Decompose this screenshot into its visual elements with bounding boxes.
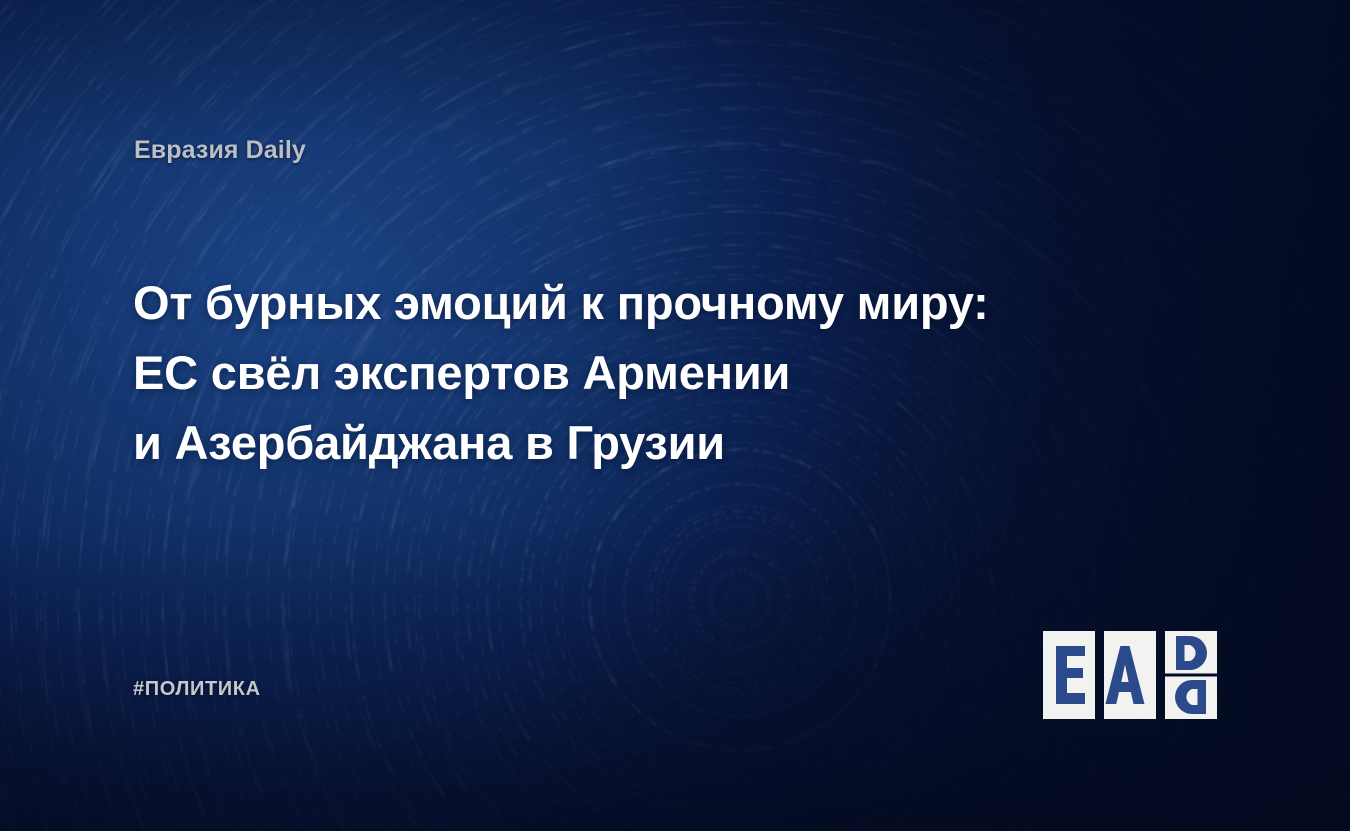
category-hashtag[interactable]: #ПОЛИТИКА <box>133 678 261 701</box>
brand-name: Евразия Daily <box>134 136 306 165</box>
headline: От бурных эмоций к прочному миру: ЕС свё… <box>133 268 1193 478</box>
headline-line-3: и Азербайджана в Грузии <box>133 408 1193 478</box>
headline-line-2: ЕС свёл экспертов Армении <box>133 338 1193 408</box>
eadaily-logo-icon <box>1043 631 1221 719</box>
headline-line-1: От бурных эмоций к прочному миру: <box>133 268 1193 338</box>
news-card: Евразия Daily От бурных эмоций к прочном… <box>0 0 1350 831</box>
card-content: Евразия Daily От бурных эмоций к прочном… <box>0 0 1350 831</box>
eadaily-logo[interactable] <box>1043 631 1221 719</box>
